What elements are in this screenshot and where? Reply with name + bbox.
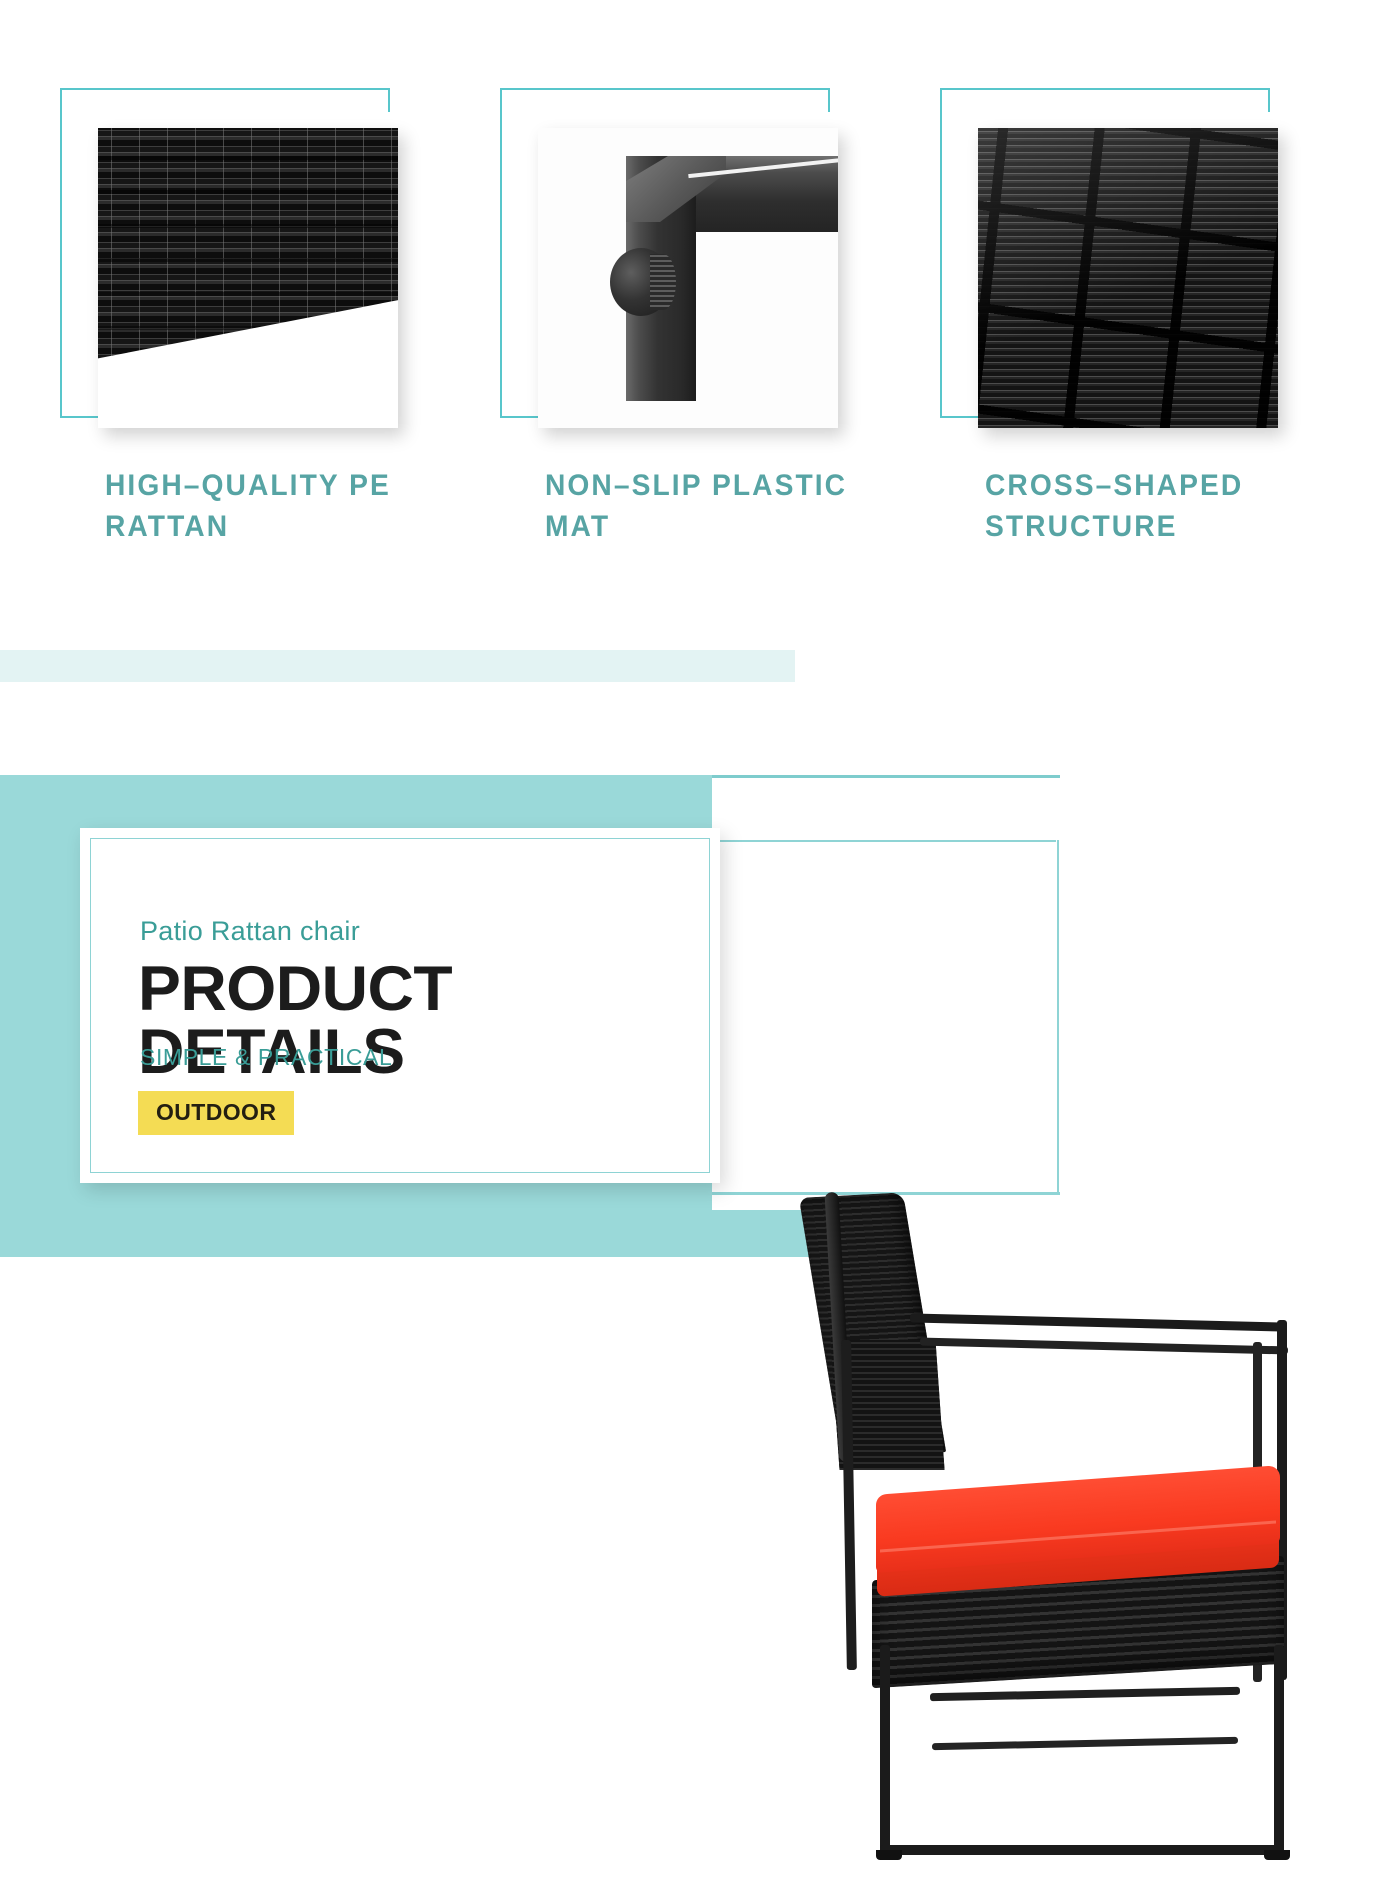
feature-caption: CROSS–SHAPED STRUCTURE — [985, 466, 1314, 548]
feature-card-pe-rattan[interactable]: HIGH–QUALITY PE RATTAN — [60, 88, 460, 558]
chair-armrest-inner — [920, 1338, 1288, 1355]
chair-foot-right — [1264, 1850, 1290, 1860]
chair-leg-back — [880, 1645, 890, 1853]
chair-armrest-top — [910, 1313, 1285, 1331]
chair-leg-front — [1274, 1645, 1284, 1853]
product-image-rattan-chair — [780, 1190, 1340, 1890]
product-kicker: Patio Rattan chair — [140, 916, 360, 947]
chair-foot-left — [876, 1850, 902, 1860]
feature-caption: HIGH–QUALITY PE RATTAN — [105, 466, 434, 548]
product-details-panel: Patio Rattan chair PRODUCT DETAILS SIMPL… — [80, 828, 720, 1183]
feature-cards-row: HIGH–QUALITY PE RATTAN NON–SLIP PLASTIC … — [0, 0, 1400, 600]
feature-photo-cross-structure — [978, 128, 1278, 428]
feature-card-cross-structure[interactable]: CROSS–SHAPED STRUCTURE — [940, 88, 1340, 558]
status-badge: OUTDOOR — [138, 1091, 294, 1135]
teal-rule-vertical — [1057, 840, 1059, 1195]
cross-grid-texture — [978, 128, 1278, 428]
rattan-weave-texture — [98, 128, 398, 428]
chair-leg-brace-lower — [932, 1737, 1238, 1750]
feature-caption: NON–SLIP PLASTIC MAT — [545, 466, 874, 548]
teal-rule-middle — [714, 840, 1056, 842]
chair-leg-brace-upper — [930, 1687, 1240, 1701]
teal-rule-top — [712, 775, 1060, 778]
metal-corner-texture — [538, 128, 838, 428]
plastic-mat-knob-icon — [610, 248, 672, 316]
chair-sled-rail — [880, 1845, 1284, 1855]
product-banner-section: Patio Rattan chair PRODUCT DETAILS SIMPL… — [0, 600, 1400, 1400]
product-subline: SIMPLE & PRACTICAL — [140, 1044, 392, 1071]
teal-background-block-lower — [0, 1210, 880, 1257]
feature-card-non-slip-mat[interactable]: NON–SLIP PLASTIC MAT — [500, 88, 900, 558]
feature-photo-non-slip-mat — [538, 128, 838, 428]
light-teal-band — [0, 650, 795, 682]
feature-photo-pe-rattan — [98, 128, 398, 428]
